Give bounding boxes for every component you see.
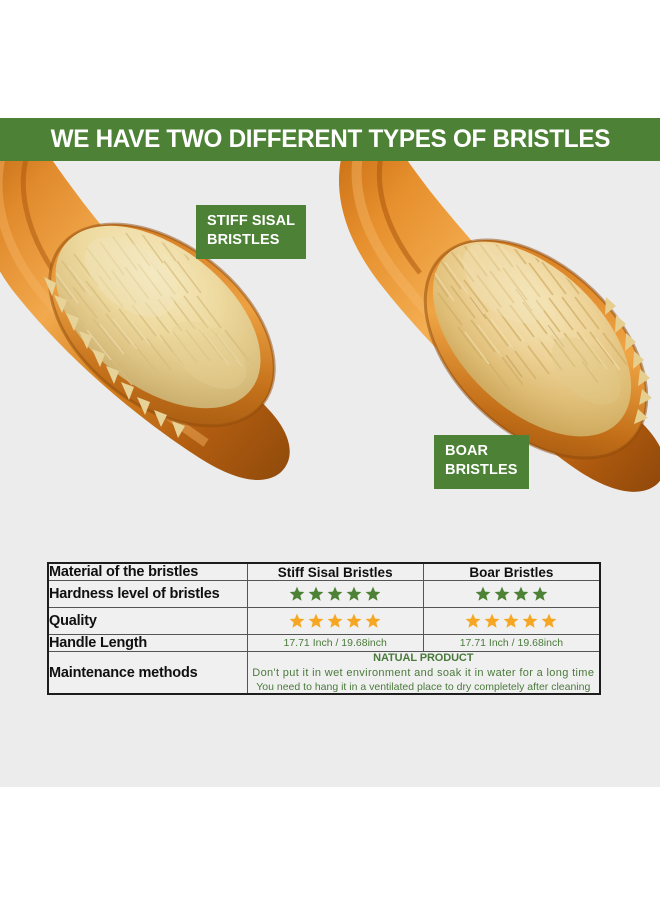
page-title: WE HAVE TWO DIFFERENT TYPES OF BRISTLES (50, 125, 609, 154)
cell-quality-sisal (247, 608, 423, 635)
star-icon (465, 613, 481, 629)
star-icon (289, 586, 305, 602)
star-icon (346, 586, 362, 602)
cell-material-sisal: Stiff Sisal Bristles (247, 563, 423, 581)
star-icon (365, 586, 381, 602)
cell-material-boar: Boar Bristles (423, 563, 600, 581)
row-label-maintenance: Maintenance methods (48, 652, 247, 695)
sisal-caption-line1: STIFF SISAL (207, 212, 295, 231)
row-label-hardness: Hardness level of bristles (48, 581, 247, 608)
star-icon (346, 613, 362, 629)
star-icon (308, 586, 324, 602)
row-label-handle-length: Handle Length (48, 635, 247, 652)
cell-handle-length-boar: 17.71 Inch / 19.68inch (423, 635, 600, 652)
star-rating-hardness-boar (424, 581, 599, 607)
star-icon (484, 613, 500, 629)
cell-maintenance: NATUAL PRODUCT Don't put it in wet envir… (247, 652, 600, 695)
table-row-material: Material of the bristles Stiff Sisal Bri… (48, 563, 600, 581)
star-icon (308, 613, 324, 629)
star-icon (532, 586, 548, 602)
boar-caption-line1: BOAR (445, 442, 518, 461)
cell-handle-length-sisal: 17.71 Inch / 19.68inch (247, 635, 423, 652)
star-icon (327, 586, 343, 602)
row-label-quality: Quality (48, 608, 247, 635)
star-icon (365, 613, 381, 629)
sisal-caption-tag: STIFF SISAL BRISTLES (196, 205, 306, 259)
maintenance-line-1: Don't put it in wet environment and soak… (248, 667, 599, 679)
cell-hardness-boar (423, 581, 600, 608)
star-icon (522, 613, 538, 629)
star-rating-quality-sisal (248, 608, 423, 634)
star-icon (541, 613, 557, 629)
table-row-handle-length: Handle Length 17.71 Inch / 19.68inch 17.… (48, 635, 600, 652)
row-label-material: Material of the bristles (48, 563, 247, 581)
table-row-hardness: Hardness level of bristles (48, 581, 600, 608)
header-banner: WE HAVE TWO DIFFERENT TYPES OF BRISTLES (0, 118, 660, 161)
star-icon (503, 613, 519, 629)
star-icon (289, 613, 305, 629)
maintenance-heading: NATUAL PRODUCT (248, 652, 599, 664)
cell-hardness-sisal (247, 581, 423, 608)
table-row-quality: Quality (48, 608, 600, 635)
boar-caption-line2: BRISTLES (445, 461, 518, 480)
star-icon (513, 586, 529, 602)
cell-quality-boar (423, 608, 600, 635)
maintenance-line-2: You need to hang it in a ventilated plac… (248, 681, 599, 693)
comparison-table: Material of the bristles Stiff Sisal Bri… (47, 562, 601, 695)
star-icon (327, 613, 343, 629)
star-rating-quality-boar (424, 608, 599, 634)
sisal-caption-line2: BRISTLES (207, 231, 295, 250)
table-row-maintenance: Maintenance methods NATUAL PRODUCT Don't… (48, 652, 600, 695)
boar-caption-tag: BOAR BRISTLES (434, 435, 529, 489)
product-photos: STIFF SISAL BRISTLES BOAR BRISTLES (0, 161, 660, 501)
star-icon (494, 586, 510, 602)
star-icon (475, 586, 491, 602)
star-rating-hardness-sisal (248, 581, 423, 607)
